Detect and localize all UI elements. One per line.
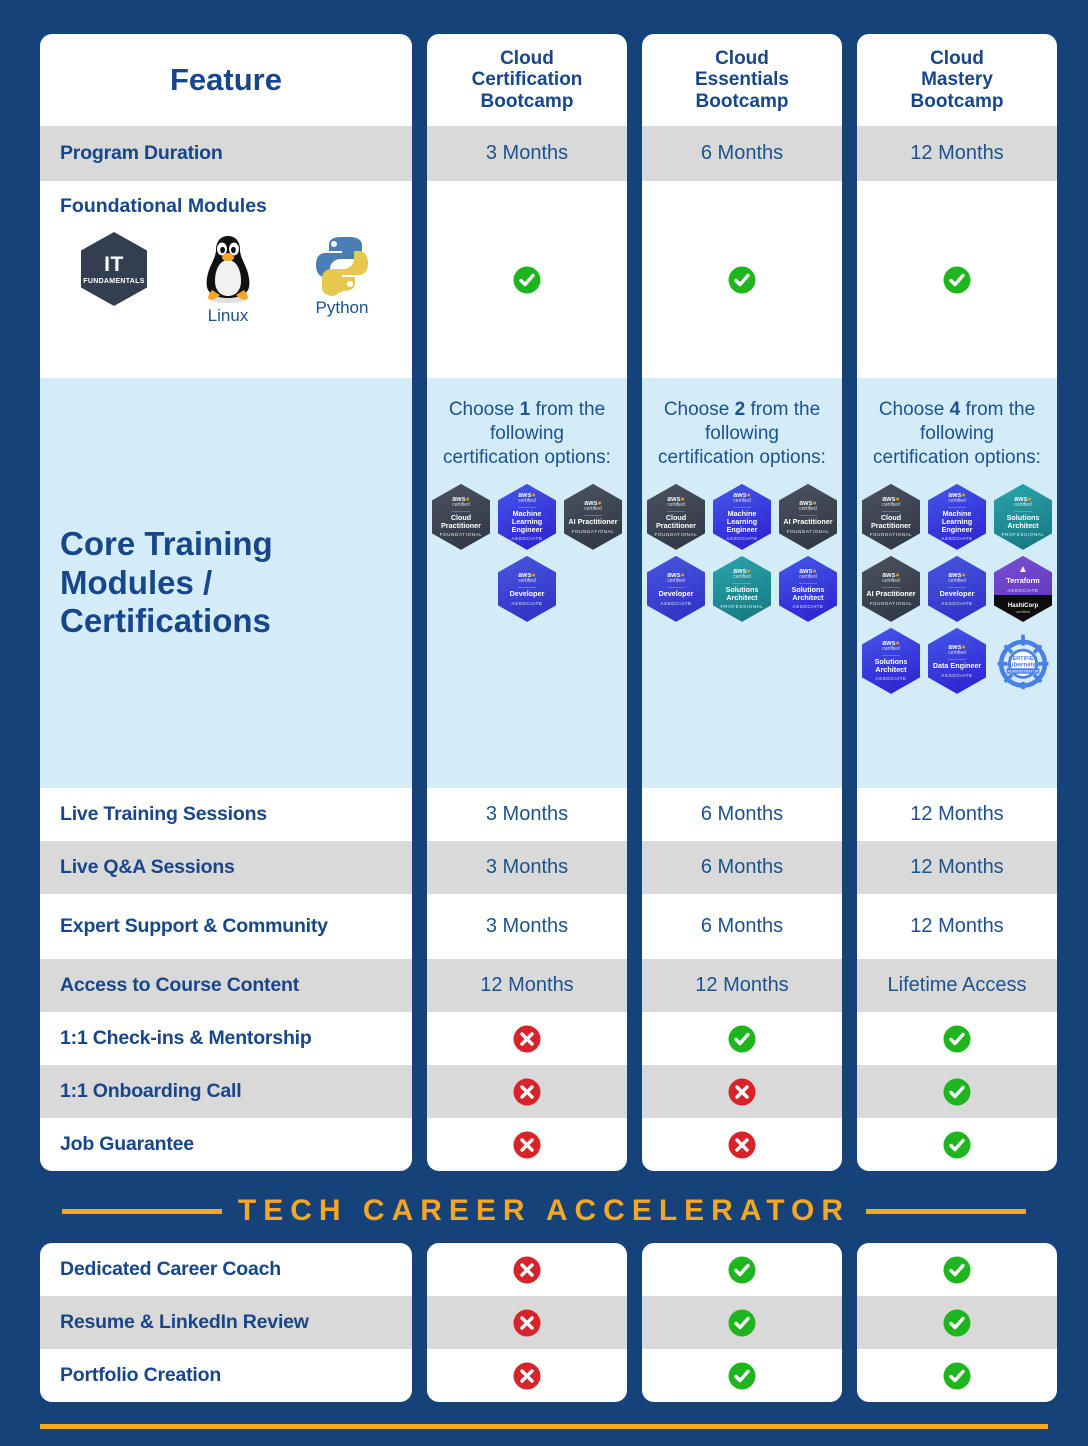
plan-header-1: CloudEssentialsBootcamp: [642, 34, 842, 126]
comparison-infographic: Feature Program Duration Foundational Mo…: [0, 0, 1088, 1446]
accelerator-title: TECH CAREER ACCELERATOR: [238, 1194, 850, 1228]
value-expert-support: 6 Months: [642, 894, 842, 959]
accelerator-table: Dedicated Career CoachResume & LinkedIn …: [40, 1243, 1048, 1402]
value-live-training: 6 Months: [642, 788, 842, 841]
row-label-course-access: Access to Course Content: [40, 959, 412, 1012]
row-label-expert-support: Expert Support & Community: [40, 894, 412, 959]
value-live-qa: 3 Months: [427, 841, 627, 894]
check-icon: [942, 265, 972, 295]
column-gap: [842, 34, 857, 1171]
plan-column-mastery: CloudMasteryBootcamp12 MonthsChoose 4 fr…: [857, 34, 1057, 1171]
value-onboarding: [427, 1065, 627, 1118]
check-icon: [942, 1077, 972, 1107]
choose-text-1: Choose 2 from the following certificatio…: [642, 398, 842, 470]
banner-rule-right: [866, 1209, 1026, 1214]
accelerator-value: [857, 1296, 1057, 1349]
check-icon: [727, 1308, 757, 1338]
accelerator-value: [642, 1349, 842, 1402]
accelerator-column-mastery: [857, 1243, 1057, 1402]
svg-text:kubernetes: kubernetes: [1006, 661, 1040, 668]
svg-text:ADMINISTRATOR: ADMINISTRATOR: [1007, 669, 1038, 673]
value-core-training: Choose 4 from the following certificatio…: [857, 378, 1057, 788]
value-foundational-modules: [427, 181, 627, 378]
row-label-dedicated-career-coach: Dedicated Career Coach: [40, 1243, 412, 1296]
value-course-access: 12 Months: [642, 959, 842, 1012]
check-icon: [942, 1024, 972, 1054]
badge-aws-developer: aws●certifiedDeveloperASSOCIATE: [498, 556, 556, 622]
badge-aws-cloud-practitioner: aws●certifiedCloud PractitionerFOUNDATIO…: [647, 484, 705, 550]
foundational-item-linux: Linux: [188, 232, 268, 326]
value-course-access: 12 Months: [427, 959, 627, 1012]
plan-header-0: CloudCertificationBootcamp: [427, 34, 627, 126]
linux-label: Linux: [208, 306, 249, 326]
cross-icon: [727, 1130, 757, 1160]
linux-icon: [199, 232, 257, 304]
cross-icon: [512, 1130, 542, 1160]
cross-icon: [512, 1077, 542, 1107]
cross-icon: [512, 1255, 542, 1285]
badge-aws-machine-learning-engineer: aws●certifiedMachine Learning EngineerAS…: [928, 484, 986, 550]
core-training-label: Core Training Modules / Certifications: [40, 378, 412, 788]
column-gap: [842, 1243, 857, 1402]
row-label-portfolio-creation: Portfolio Creation: [40, 1349, 412, 1402]
value-job-guarantee: [642, 1118, 842, 1171]
accelerator-feature-column: Dedicated Career CoachResume & LinkedIn …: [40, 1243, 412, 1402]
value-live-training: 12 Months: [857, 788, 1057, 841]
bottom-accent-bar: [40, 1424, 1048, 1429]
badge-aws-data-engineer: aws●certifiedData EngineerASSOCIATE: [928, 628, 986, 694]
row-label-core-training: Core Training Modules / Certifications: [40, 378, 412, 788]
accelerator-value: [857, 1243, 1057, 1296]
column-gap: [412, 1243, 427, 1402]
accelerator-banner: TECH CAREER ACCELERATOR: [40, 1186, 1048, 1236]
value-checkins: [427, 1012, 627, 1065]
value-program-duration: 6 Months: [642, 126, 842, 181]
cross-icon: [512, 1024, 542, 1054]
value-live-qa: 6 Months: [642, 841, 842, 894]
badge-aws-ai-practitioner: aws●certifiedAI PractitionerFOUNDATIONAL: [779, 484, 837, 550]
value-core-training: Choose 2 from the following certificatio…: [642, 378, 842, 788]
check-icon: [512, 265, 542, 295]
value-live-training: 3 Months: [427, 788, 627, 841]
row-label-program-duration: Program Duration: [40, 126, 412, 181]
it-fundamentals-icon: IT FUNDAMENTALS: [81, 232, 147, 306]
value-live-qa: 12 Months: [857, 841, 1057, 894]
value-foundational-modules: [857, 181, 1057, 378]
value-program-duration: 3 Months: [427, 126, 627, 181]
accelerator-value: [427, 1243, 627, 1296]
badge-aws-solutions-architect: aws●certifiedSolutions ArchitectPROFESSI…: [994, 484, 1052, 550]
row-label-live-qa: Live Q&A Sessions: [40, 841, 412, 894]
accelerator-value: [427, 1296, 627, 1349]
column-gap: [627, 1243, 642, 1402]
value-job-guarantee: [857, 1118, 1057, 1171]
badge-aws-cloud-practitioner: aws●certifiedCloud PractitionerFOUNDATIO…: [862, 484, 920, 550]
badge-terraform: ▲TerraformASSOCIATEHashiCorpcertified: [994, 556, 1052, 622]
row-label-checkins: 1:1 Check-ins & Mentorship: [40, 1012, 412, 1065]
row-label-job-guarantee: Job Guarantee: [40, 1118, 412, 1171]
badge-aws-machine-learning-engineer: aws●certifiedMachine Learning EngineerAS…: [498, 484, 556, 550]
accelerator-value: [857, 1349, 1057, 1402]
badge-grid-0: aws●certifiedCloud PractitionerFOUNDATIO…: [427, 470, 627, 622]
check-icon: [727, 265, 757, 295]
value-core-training: Choose 1 from the following certificatio…: [427, 378, 627, 788]
cross-icon: [512, 1361, 542, 1391]
badge-aws-developer: aws●certifiedDeveloperASSOCIATE: [928, 556, 986, 622]
badge-aws-solutions-architect: aws●certifiedSolutions ArchitectPROFESSI…: [713, 556, 771, 622]
badge-aws-solutions-architect: aws●certifiedSolutions ArchitectASSOCIAT…: [862, 628, 920, 694]
plan-header-2: CloudMasteryBootcamp: [857, 34, 1057, 126]
value-checkins: [857, 1012, 1057, 1065]
value-foundational-modules: [642, 181, 842, 378]
row-label-live-training: Live Training Sessions: [40, 788, 412, 841]
foundational-item-it: IT FUNDAMENTALS: [74, 232, 154, 308]
value-expert-support: 12 Months: [857, 894, 1057, 959]
badge-kubernetes: CERTIFIEDkubernetesADMINISTRATOR: [994, 628, 1052, 694]
choose-text-0: Choose 1 from the following certificatio…: [427, 398, 627, 470]
python-label: Python: [316, 298, 369, 318]
value-job-guarantee: [427, 1118, 627, 1171]
value-onboarding: [642, 1065, 842, 1118]
value-course-access: Lifetime Access: [857, 959, 1057, 1012]
foundational-icon-group: IT FUNDAMENTALS: [60, 218, 412, 326]
accelerator-column-certification: [427, 1243, 627, 1402]
foundational-modules-title: Foundational Modules: [60, 195, 412, 218]
check-icon: [727, 1255, 757, 1285]
value-expert-support: 3 Months: [427, 894, 627, 959]
feature-column-card: Feature Program Duration Foundational Mo…: [40, 34, 412, 1171]
accelerator-column-essentials: [642, 1243, 842, 1402]
column-gap: [412, 34, 427, 1171]
main-comparison-table: Feature Program Duration Foundational Mo…: [40, 34, 1048, 1171]
value-onboarding: [857, 1065, 1057, 1118]
plan-column-essentials: CloudEssentialsBootcamp6 MonthsChoose 2 …: [642, 34, 842, 1171]
cross-icon: [727, 1077, 757, 1107]
choose-text-2: Choose 4 from the following certificatio…: [857, 398, 1057, 470]
badge-grid-2: aws●certifiedCloud PractitionerFOUNDATIO…: [859, 470, 1055, 694]
check-icon: [942, 1255, 972, 1285]
accelerator-value: [642, 1296, 842, 1349]
accelerator-value: [642, 1243, 842, 1296]
badge-aws-developer: aws●certifiedDeveloperASSOCIATE: [647, 556, 705, 622]
check-icon: [942, 1130, 972, 1160]
badge-aws-ai-practitioner: aws●certifiedAI PractitionerFOUNDATIONAL: [564, 484, 622, 550]
value-program-duration: 12 Months: [857, 126, 1057, 181]
foundational-item-python: Python: [302, 232, 382, 318]
badge-grid-1: aws●certifiedCloud PractitionerFOUNDATIO…: [642, 470, 842, 622]
row-label-foundational-modules: Foundational Modules IT FUNDAMENTALS: [40, 181, 412, 378]
python-icon: [310, 232, 374, 296]
badge-aws-cloud-practitioner: aws●certifiedCloud PractitionerFOUNDATIO…: [432, 484, 490, 550]
banner-rule-left: [62, 1209, 222, 1214]
page-title: Feature: [40, 34, 412, 126]
cross-icon: [512, 1308, 542, 1338]
column-gap: [627, 34, 642, 1171]
row-label-onboarding: 1:1 Onboarding Call: [40, 1065, 412, 1118]
row-label-resume-linkedin-review: Resume & LinkedIn Review: [40, 1296, 412, 1349]
plan-column-certification: CloudCertificationBootcamp3 MonthsChoose…: [427, 34, 627, 1171]
check-icon: [727, 1361, 757, 1391]
check-icon: [727, 1024, 757, 1054]
badge-aws-solutions-architect: aws●certifiedSolutions ArchitectASSOCIAT…: [779, 556, 837, 622]
check-icon: [942, 1361, 972, 1391]
badge-aws-ai-practitioner: aws●certifiedAI PractitionerFOUNDATIONAL: [862, 556, 920, 622]
check-icon: [942, 1308, 972, 1338]
accelerator-value: [427, 1349, 627, 1402]
badge-aws-machine-learning-engineer: aws●certifiedMachine Learning EngineerAS…: [713, 484, 771, 550]
value-checkins: [642, 1012, 842, 1065]
